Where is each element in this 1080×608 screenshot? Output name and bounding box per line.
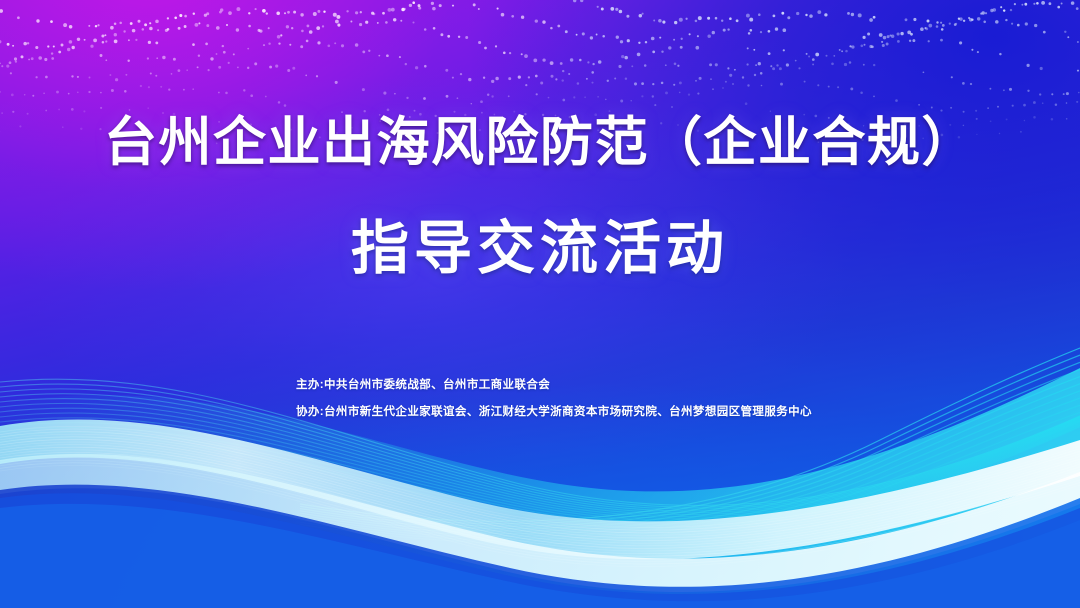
wave-ribbon-decoration [0,308,1080,608]
credit-line-coorganizer: 协办:台州市新生代企业家联谊会、浙江财经大学浙商资本市场研究院、台州梦想园区管理… [296,399,812,426]
page-title-line-1: 台州企业出海风险防范（企业合规） [0,112,1080,174]
event-banner: 台州企业出海风险防范（企业合规） 指导交流活动 主办:中共台州市委统战部、台州市… [0,0,1080,608]
credits-block: 主办:中共台州市委统战部、台州市工商业联合会 协办:台州市新生代企业家联谊会、浙… [296,372,812,426]
page-title-line-2: 指导交流活动 [0,216,1080,282]
credit-line-organizer: 主办:中共台州市委统战部、台州市工商业联合会 [296,372,812,399]
title-block: 台州企业出海风险防范（企业合规） 指导交流活动 [0,112,1080,282]
